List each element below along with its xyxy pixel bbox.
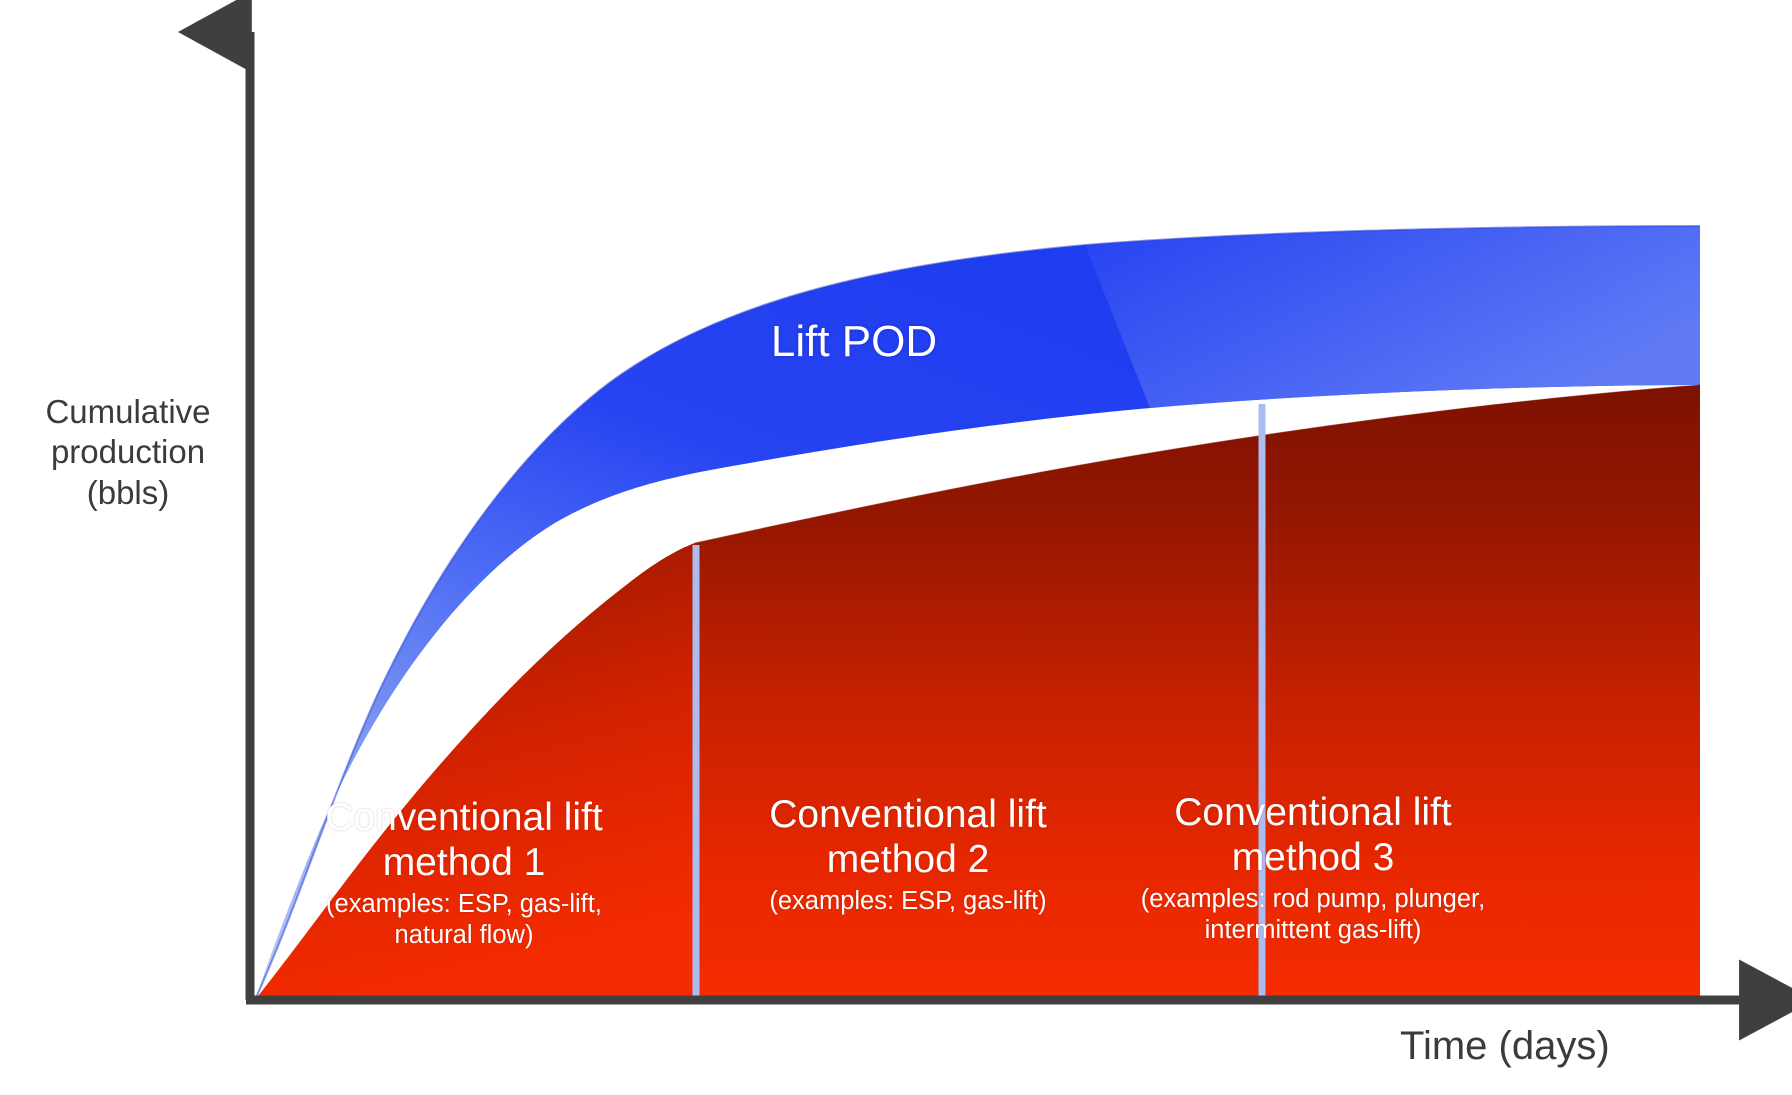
area-chart-plot	[0, 0, 1792, 1095]
x-axis-label: Time (days)	[1400, 1022, 1710, 1071]
chart-canvas: Cumulative production (bbls) Time (days)…	[0, 0, 1792, 1095]
series-conventional-lift-area	[255, 385, 1700, 1000]
y-axis-label: Cumulative production (bbls)	[16, 392, 240, 513]
